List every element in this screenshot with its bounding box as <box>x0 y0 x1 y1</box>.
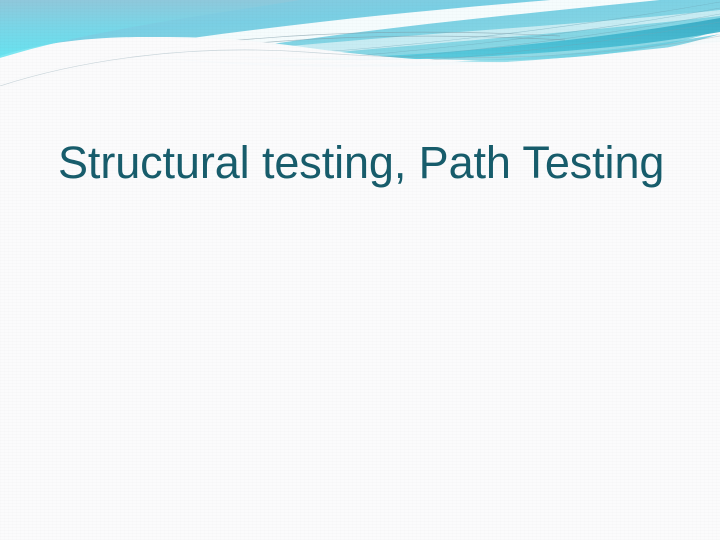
title-placeholder[interactable]: Structural testing, Path Testing <box>58 136 688 189</box>
content-placeholder[interactable] <box>58 212 662 502</box>
presentation-slide: Structural testing, Path Testing <box>0 0 720 540</box>
wave-swoosh-svg <box>0 0 720 86</box>
header-wave-graphic <box>0 0 720 86</box>
slide-title: Structural testing, Path Testing <box>58 136 688 189</box>
